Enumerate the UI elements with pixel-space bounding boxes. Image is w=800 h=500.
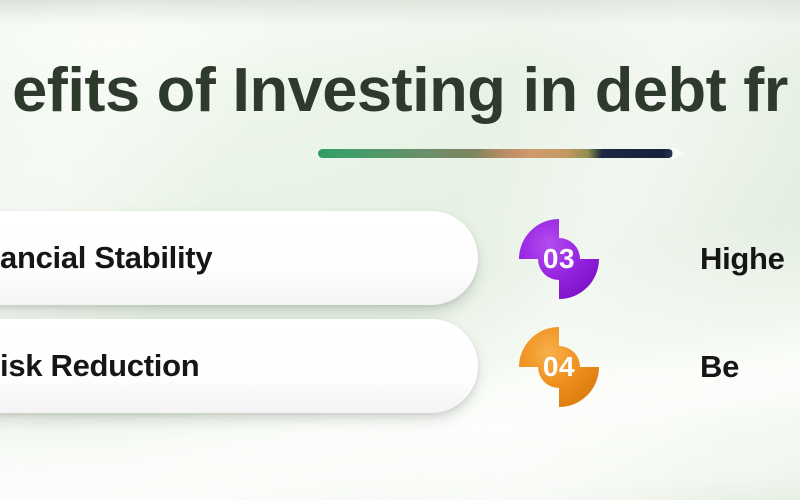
list-item[interactable]: ancial Stability [0,211,478,305]
background-sparkle [520,414,710,448]
poster-canvas: efits of Investing in debt fr ancial Sta… [0,0,800,500]
number-badge-03[interactable]: 03 [518,218,600,300]
badge-notched-circle-icon [518,218,600,300]
badge-label-higher-returns: Highe [700,241,800,277]
card-label-financial-stability: ancial Stability [0,240,212,276]
list-item[interactable]: isk Reduction [0,319,478,413]
badge-label-better-liquidity: Be [700,349,800,385]
background-bottom-shade [0,478,800,500]
divider-arrow-icon [672,146,685,160]
divider [318,149,673,158]
divider-gradient-bar [318,149,673,158]
card-label-risk-reduction: isk Reduction [0,348,199,384]
badge-notched-circle-icon [518,326,600,408]
number-badge-04[interactable]: 04 [518,326,600,408]
page-title: efits of Investing in debt fr [0,55,800,127]
